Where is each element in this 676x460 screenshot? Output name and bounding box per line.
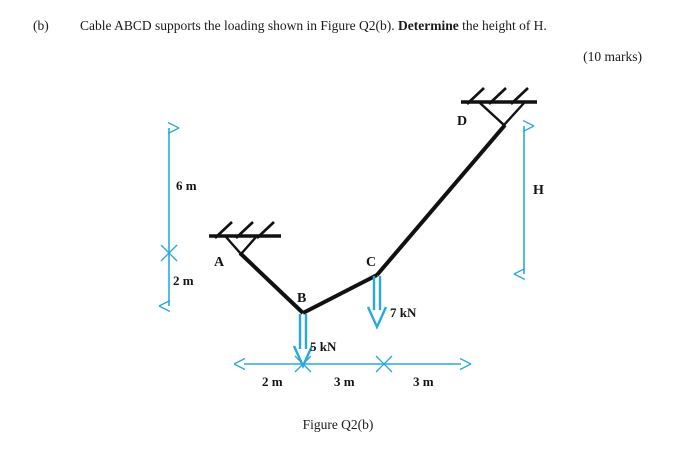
dimension-label-3m-bc: 3 m: [334, 375, 355, 388]
cable-segment-bc: [303, 275, 377, 313]
node-label-d: D: [457, 115, 467, 129]
dimension-label-H: H: [533, 184, 544, 198]
figure-caption: Figure Q2(b): [0, 417, 676, 433]
load-arrow-c: [368, 276, 386, 327]
load-arrow-c-head: [368, 307, 386, 327]
load-arrow-c-shaft: [374, 276, 380, 310]
support-d: [461, 88, 537, 125]
node-label-a: A: [214, 256, 224, 270]
question-marks: (10 marks): [583, 50, 642, 64]
figure-q2b: 6 m 2 m H A B C D 5 kN 7 kN 2 m 3 m 3 m …: [0, 70, 676, 460]
load-label-5kn: 5 kN: [310, 340, 336, 353]
question-text-part2: the height of H.: [459, 18, 547, 33]
cable-segment-cd: [377, 125, 505, 275]
dimension-label-2m-vertical: 2 m: [173, 274, 194, 287]
support-a-pin: [226, 237, 256, 254]
node-label-c: C: [366, 256, 376, 270]
dimension-label-6m: 6 m: [176, 179, 197, 192]
node-label-b: B: [297, 292, 306, 306]
dimension-label-3m-cd: 3 m: [413, 375, 434, 388]
support-a: [209, 222, 281, 254]
question-keyword-determine: Determine: [398, 18, 459, 33]
load-label-7kn: 7 kN: [390, 306, 416, 319]
question-number: (b): [33, 19, 49, 33]
support-d-pin: [480, 103, 524, 125]
question-text-part1: Cable ABCD supports the loading shown in…: [80, 18, 398, 33]
figure-drawing: [0, 70, 676, 460]
cable-segment-ab: [240, 253, 303, 313]
question-statement: Cable ABCD supports the loading shown in…: [80, 19, 547, 33]
cable-abcd: [240, 125, 505, 313]
horizontal-dimension-group: [244, 356, 461, 372]
load-arrow-b-shaft: [300, 314, 306, 349]
dimension-label-2m-horizontal: 2 m: [262, 375, 283, 388]
